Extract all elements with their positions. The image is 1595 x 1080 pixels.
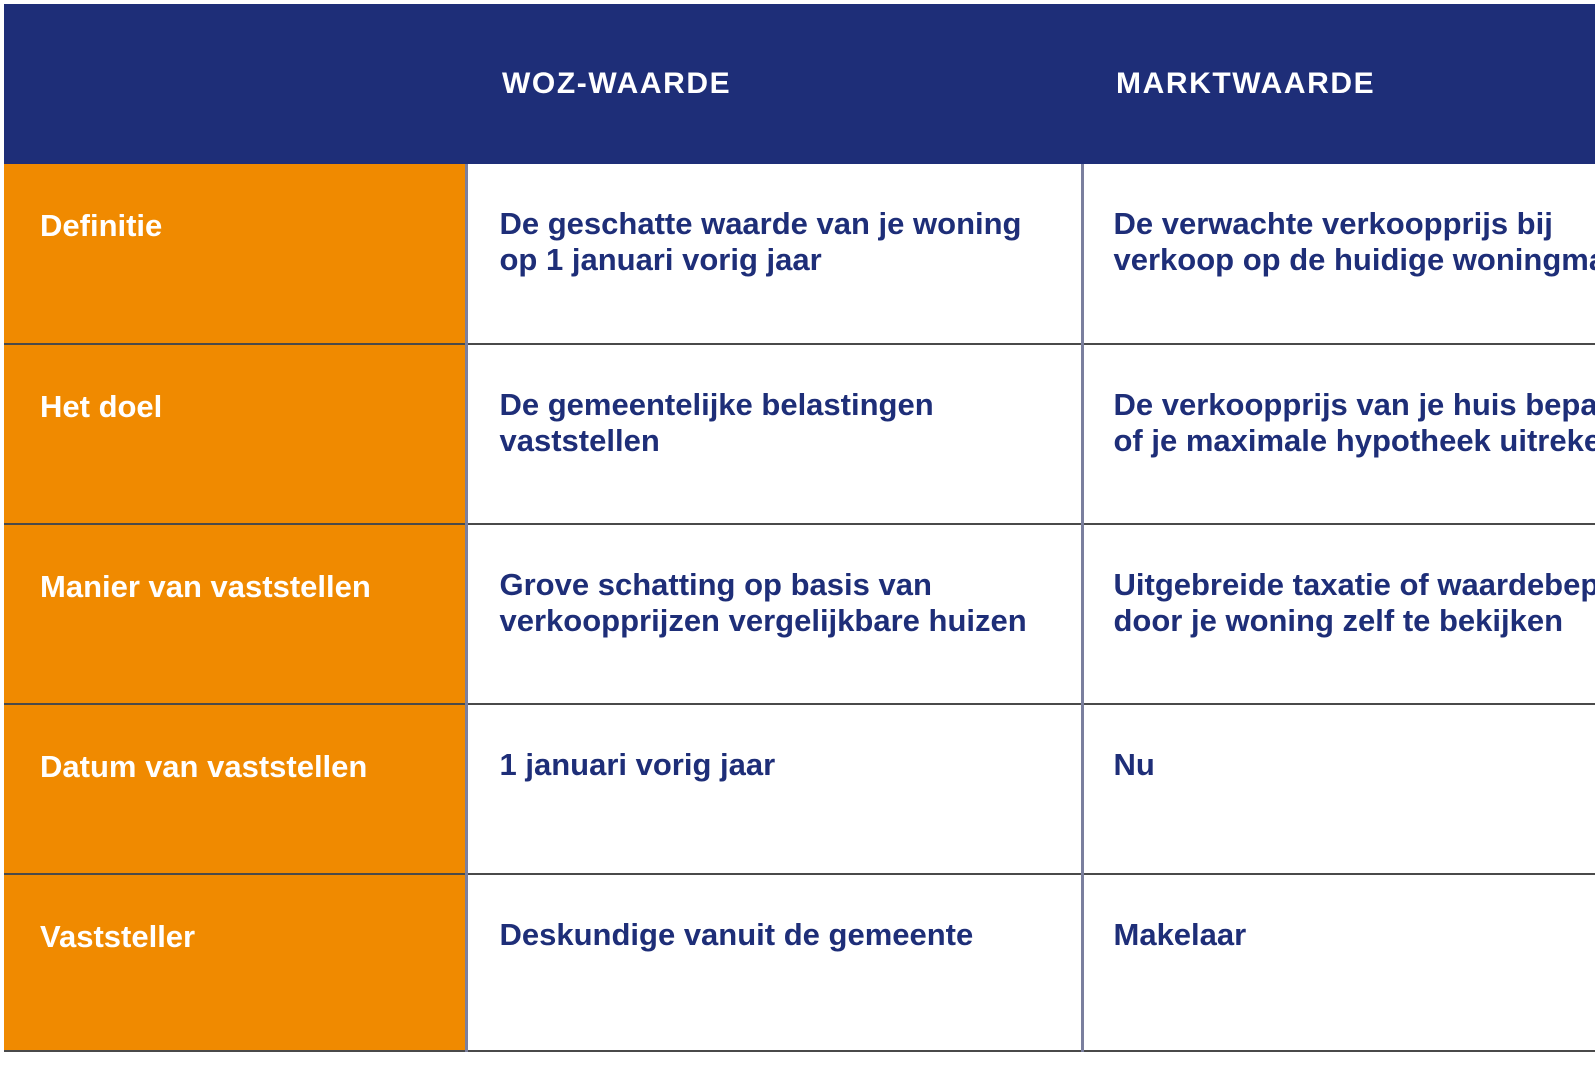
cell-het-doel-markt: De verkoopprijs van je huis bepalen of j… [1082,344,1595,524]
cell-datum-van-vaststellen-markt: Nu [1082,704,1595,874]
table-row: Definitie De geschatte waarde van je won… [4,164,1595,344]
cell-vaststeller-woz: Deskundige vanuit de gemeente [466,874,1082,1051]
row-label-text: Het doel [40,389,445,425]
table-row: Manier van vaststellen Grove schatting o… [4,524,1595,704]
table-row: Het doel De gemeentelijke belastingen va… [4,344,1595,524]
table-body: Definitie De geschatte waarde van je won… [4,164,1595,1051]
row-label-text: Definitie [40,208,445,244]
cell-text: De gemeentelijke belastingen vaststellen [500,387,1041,460]
table-header-row: WOZ-WAARDE MARKTWAARDE [4,4,1595,164]
table-row: Datum van vaststellen 1 januari vorig ja… [4,704,1595,874]
cell-het-doel-woz: De gemeentelijke belastingen vaststellen [466,344,1082,524]
cell-text: Uitgebreide taxatie of waardebepaling do… [1114,567,1595,640]
cell-definitie-woz: De geschatte waarde van je woning op 1 j… [466,164,1082,344]
table-header: WOZ-WAARDE MARKTWAARDE [4,4,1595,164]
cell-text: Nu [1114,747,1595,783]
row-label-het-doel: Het doel [4,344,466,524]
cell-text: Makelaar [1114,917,1595,953]
header-cell-woz-waarde: WOZ-WAARDE [466,4,1082,164]
row-label-text: Vaststeller [40,919,445,955]
row-label-text: Datum van vaststellen [40,749,445,785]
comparison-table-wrapper: WOZ-WAARDE MARKTWAARDE Definitie De gesc… [4,4,1591,1063]
cell-text: Deskundige vanuit de gemeente [500,917,1041,953]
cell-text: 1 januari vorig jaar [500,747,1041,783]
header-cell-row-label [4,4,466,164]
table-row: Vaststeller Deskundige vanuit de gemeent… [4,874,1595,1051]
woz-vs-marktwaarde-table: WOZ-WAARDE MARKTWAARDE Definitie De gesc… [4,4,1595,1052]
row-label-text: Manier van vaststellen [40,569,445,605]
cell-manier-van-vaststellen-markt: Uitgebreide taxatie of waardebepaling do… [1082,524,1595,704]
cell-text: De verkoopprijs van je huis bepalen of j… [1114,387,1595,460]
cell-datum-van-vaststellen-woz: 1 januari vorig jaar [466,704,1082,874]
row-label-manier-van-vaststellen: Manier van vaststellen [4,524,466,704]
cell-vaststeller-markt: Makelaar [1082,874,1595,1051]
row-label-vaststeller: Vaststeller [4,874,466,1051]
cell-definitie-markt: De verwachte verkoopprijs bij verkoop op… [1082,164,1595,344]
row-label-definitie: Definitie [4,164,466,344]
cell-text: De verwachte verkoopprijs bij verkoop op… [1114,206,1595,279]
header-cell-marktwaarde: MARKTWAARDE [1082,4,1595,164]
cell-manier-van-vaststellen-woz: Grove schatting op basis van verkoopprij… [466,524,1082,704]
cell-text: Grove schatting op basis van verkoopprij… [500,567,1041,640]
row-label-datum-van-vaststellen: Datum van vaststellen [4,704,466,874]
cell-text: De geschatte waarde van je woning op 1 j… [500,206,1041,279]
